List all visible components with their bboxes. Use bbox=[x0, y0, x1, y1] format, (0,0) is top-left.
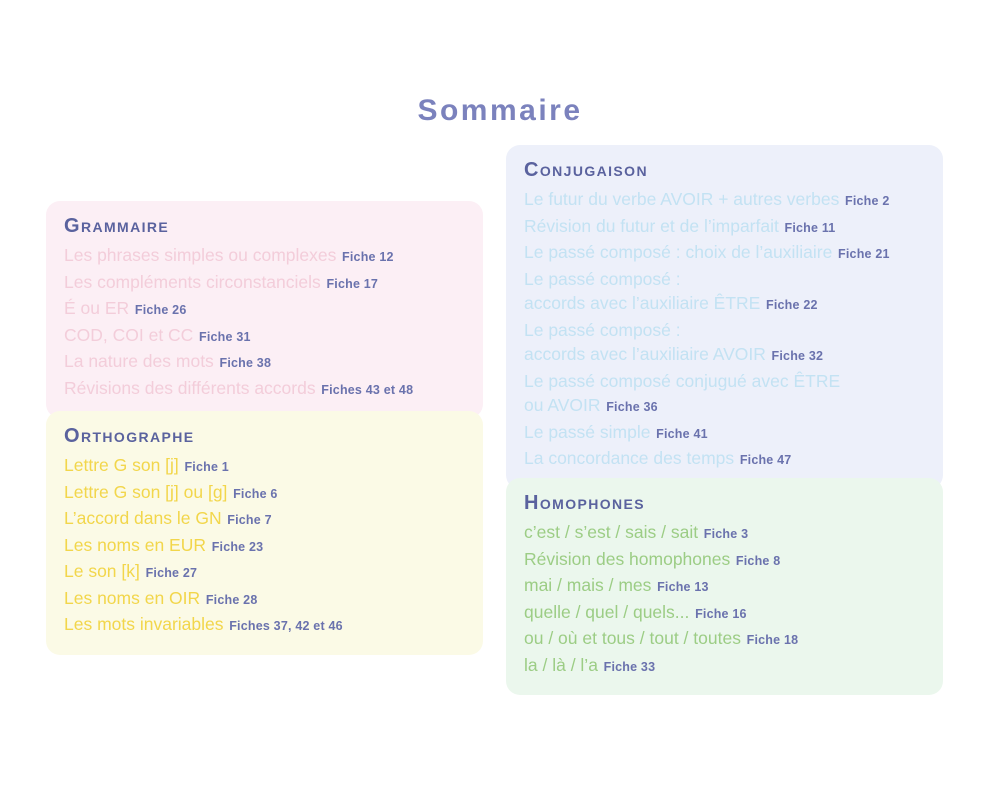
toc-entry[interactable]: COD, COI et CC Fiche 31 bbox=[64, 323, 465, 350]
toc-entry-title: Révision du futur et de l’imparfait bbox=[524, 216, 779, 236]
toc-entry[interactable]: Les noms en OIR Fiche 28 bbox=[64, 586, 465, 613]
toc-entry-title: la / là / l’a bbox=[524, 655, 598, 675]
toc-entry[interactable]: Lettre G son [j] Fiche 1 bbox=[64, 453, 465, 480]
toc-entry-title: Révision des homophones bbox=[524, 549, 730, 569]
toc-entry-title: L’accord dans le GN bbox=[64, 508, 222, 528]
page-title: Sommaire bbox=[0, 94, 1000, 128]
section-heading-grammaire: Grammaire bbox=[64, 213, 465, 240]
toc-entry-reference: Fiche 32 bbox=[768, 349, 823, 363]
toc-entry-reference: Fiche 41 bbox=[652, 427, 707, 441]
entry-list-conjugaison: Le futur du verbe AVOIR + autres verbes … bbox=[524, 187, 925, 473]
toc-entry-title: Lettre G son [j] bbox=[64, 455, 179, 475]
toc-entry[interactable]: mai / mais / mes Fiche 13 bbox=[524, 573, 925, 600]
toc-entry[interactable]: Les compléments circonstanciels Fiche 17 bbox=[64, 270, 465, 297]
section-card-homophones: Homophones c’est / s’est / sais / sait F… bbox=[506, 478, 943, 695]
toc-entry[interactable]: ou / où et tous / tout / toutes Fiche 18 bbox=[524, 626, 925, 653]
toc-entry[interactable]: Les phrases simples ou complexes Fiche 1… bbox=[64, 243, 465, 270]
toc-entry-title: É ou ER bbox=[64, 298, 129, 318]
toc-entry-title: ou / où et tous / tout / toutes bbox=[524, 628, 741, 648]
toc-entry-title-continued: accords avec l’auxiliaire ÊTRE bbox=[524, 293, 760, 313]
toc-entry[interactable]: quelle / quel / quels... Fiche 16 bbox=[524, 600, 925, 627]
toc-entry-reference: Fiche 3 bbox=[700, 527, 748, 541]
toc-entry-title: Le passé composé : bbox=[524, 269, 681, 289]
toc-entry[interactable]: Le passé composé :accords avec l’auxilia… bbox=[524, 267, 925, 318]
toc-entry-title: c’est / s’est / sais / sait bbox=[524, 522, 698, 542]
section-heading-homophones: Homophones bbox=[524, 490, 925, 517]
toc-entry-reference: Fiches 37, 42 et 46 bbox=[226, 619, 343, 633]
section-card-grammaire: Grammaire Les phrases simples ou complex… bbox=[46, 201, 483, 418]
toc-entry-title: Le passé composé : choix de l’auxiliaire bbox=[524, 242, 832, 262]
toc-entry-reference: Fiche 12 bbox=[338, 250, 393, 264]
toc-entry-reference: Fiche 36 bbox=[603, 400, 658, 414]
toc-entry-reference: Fiche 8 bbox=[732, 554, 780, 568]
toc-entry[interactable]: Le futur du verbe AVOIR + autres verbes … bbox=[524, 187, 925, 214]
toc-entry-reference: Fiche 21 bbox=[834, 247, 889, 261]
toc-entry-reference: Fiche 22 bbox=[762, 298, 817, 312]
toc-entry[interactable]: Lettre G son [j] ou [g] Fiche 6 bbox=[64, 480, 465, 507]
toc-entry-title: Les compléments circonstanciels bbox=[64, 272, 321, 292]
toc-entry[interactable]: Révision du futur et de l’imparfait Fich… bbox=[524, 214, 925, 241]
toc-entry-reference: Fiche 47 bbox=[736, 453, 791, 467]
toc-entry-title-continued: ou AVOIR bbox=[524, 395, 601, 415]
toc-entry-reference: Fiche 11 bbox=[781, 221, 836, 235]
toc-entry-title-continued-line: ou AVOIR Fiche 36 bbox=[524, 393, 925, 420]
toc-entry-title: Les phrases simples ou complexes bbox=[64, 245, 336, 265]
toc-entry-title: La concordance des temps bbox=[524, 448, 734, 468]
toc-entry[interactable]: Les noms en EUR Fiche 23 bbox=[64, 533, 465, 560]
toc-entry[interactable]: La nature des mots Fiche 38 bbox=[64, 349, 465, 376]
toc-entry-title-continued-line: accords avec l’auxiliaire AVOIR Fiche 32 bbox=[524, 342, 925, 369]
toc-entry[interactable]: la / là / l’a Fiche 33 bbox=[524, 653, 925, 680]
toc-entry-reference: Fiche 28 bbox=[202, 593, 257, 607]
toc-entry-title: Les mots invariables bbox=[64, 614, 224, 634]
toc-entry-title: Les noms en OIR bbox=[64, 588, 200, 608]
toc-entry-title: COD, COI et CC bbox=[64, 325, 193, 345]
toc-entry-title: Le passé composé conjugué avec ÊTRE bbox=[524, 371, 840, 391]
section-heading-conjugaison: Conjugaison bbox=[524, 157, 925, 184]
toc-entry[interactable]: Le passé composé conjugué avec ÊTREou AV… bbox=[524, 369, 925, 420]
toc-entry-title: Le son [k] bbox=[64, 561, 140, 581]
toc-entry-reference: Fiche 17 bbox=[323, 277, 378, 291]
toc-entry-title: quelle / quel / quels... bbox=[524, 602, 689, 622]
toc-entry[interactable]: É ou ER Fiche 26 bbox=[64, 296, 465, 323]
toc-entry[interactable]: Le son [k] Fiche 27 bbox=[64, 559, 465, 586]
toc-entry-reference: Fiche 2 bbox=[841, 194, 889, 208]
toc-entry[interactable]: c’est / s’est / sais / sait Fiche 3 bbox=[524, 520, 925, 547]
toc-entry[interactable]: Le passé composé : choix de l’auxiliaire… bbox=[524, 240, 925, 267]
entry-list-grammaire: Les phrases simples ou complexes Fiche 1… bbox=[64, 243, 465, 402]
toc-entry-title: Le passé composé : bbox=[524, 320, 681, 340]
toc-entry[interactable]: Révisions des différents accords Fiches … bbox=[64, 376, 465, 403]
toc-entry-reference: Fiche 33 bbox=[600, 660, 655, 674]
toc-entry-reference: Fiches 43 et 48 bbox=[318, 383, 414, 397]
toc-entry[interactable]: L’accord dans le GN Fiche 7 bbox=[64, 506, 465, 533]
toc-entry-reference: Fiche 26 bbox=[131, 303, 186, 317]
toc-entry-title: Lettre G son [j] ou [g] bbox=[64, 482, 227, 502]
toc-entry-reference: Fiche 13 bbox=[653, 580, 708, 594]
toc-entry-reference: Fiche 23 bbox=[208, 540, 263, 554]
toc-entry-reference: Fiche 31 bbox=[195, 330, 250, 344]
toc-entry-reference: Fiche 38 bbox=[216, 356, 271, 370]
toc-entry-title: Le passé simple bbox=[524, 422, 650, 442]
toc-entry[interactable]: La concordance des temps Fiche 47 bbox=[524, 446, 925, 473]
toc-entry-title: mai / mais / mes bbox=[524, 575, 651, 595]
toc-entry-reference: Fiche 27 bbox=[142, 566, 197, 580]
toc-entry-reference: Fiche 16 bbox=[691, 607, 746, 621]
toc-entry-reference: Fiche 1 bbox=[181, 460, 229, 474]
entry-list-orthographe: Lettre G son [j] Fiche 1Lettre G son [j]… bbox=[64, 453, 465, 639]
toc-entry-reference: Fiche 7 bbox=[224, 513, 272, 527]
toc-entry-title: La nature des mots bbox=[64, 351, 214, 371]
toc-entry-title: Le futur du verbe AVOIR + autres verbes bbox=[524, 189, 839, 209]
toc-entry[interactable]: Le passé composé :accords avec l’auxilia… bbox=[524, 318, 925, 369]
toc-entry-title: Les noms en EUR bbox=[64, 535, 206, 555]
sommaire-page: Sommaire Grammaire Les phrases simples o… bbox=[0, 0, 1000, 800]
toc-entry[interactable]: Les mots invariables Fiches 37, 42 et 46 bbox=[64, 612, 465, 639]
section-card-orthographe: Orthographe Lettre G son [j] Fiche 1Lett… bbox=[46, 411, 483, 655]
section-card-conjugaison: Conjugaison Le futur du verbe AVOIR + au… bbox=[506, 145, 943, 489]
toc-entry-title-continued: accords avec l’auxiliaire AVOIR bbox=[524, 344, 766, 364]
toc-entry[interactable]: Le passé simple Fiche 41 bbox=[524, 420, 925, 447]
toc-entry-reference: Fiche 18 bbox=[743, 633, 798, 647]
section-heading-orthographe: Orthographe bbox=[64, 423, 465, 450]
toc-entry-title-continued-line: accords avec l’auxiliaire ÊTRE Fiche 22 bbox=[524, 291, 925, 318]
toc-entry[interactable]: Révision des homophones Fiche 8 bbox=[524, 547, 925, 574]
entry-list-homophones: c’est / s’est / sais / sait Fiche 3Révis… bbox=[524, 520, 925, 679]
toc-entry-reference: Fiche 6 bbox=[229, 487, 277, 501]
toc-entry-title: Révisions des différents accords bbox=[64, 378, 316, 398]
